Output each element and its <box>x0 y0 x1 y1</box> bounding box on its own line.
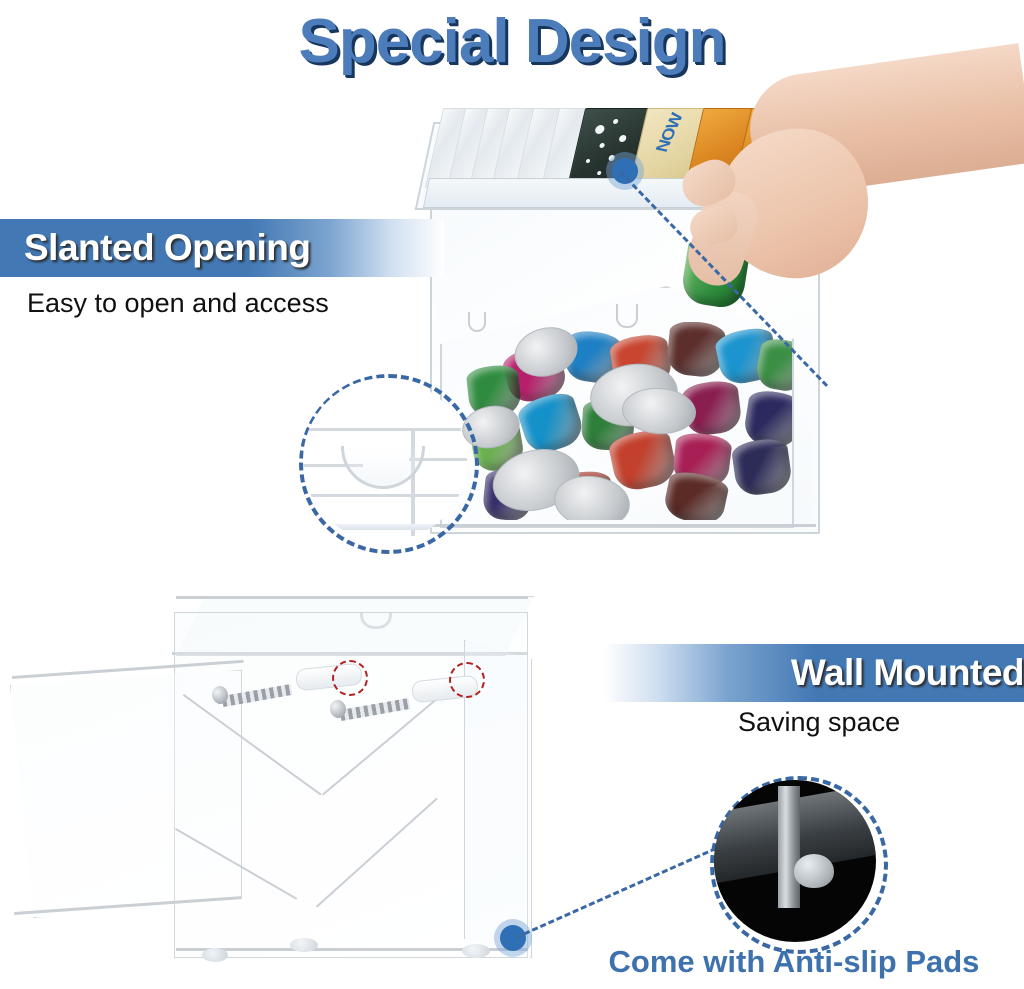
subtitle-slanted-opening: Easy to open and access <box>27 288 329 319</box>
mounting-hole-highlight <box>449 662 485 698</box>
coffee-capsule-pile <box>462 322 792 520</box>
detail-view-anti-slip-pad <box>714 780 876 942</box>
star-graphic-icon <box>613 119 619 124</box>
callout-dot-slanted-opening <box>612 158 638 184</box>
star-graphic-icon <box>608 155 615 161</box>
anti-slip-pads-caption: Come with Anti-slip Pads <box>584 944 1004 980</box>
callout-dot-anti-slip-pad <box>500 925 526 951</box>
star-graphic-icon <box>599 143 605 148</box>
product-image-bottom <box>64 582 564 982</box>
anti-slip-pad <box>462 944 490 958</box>
anti-slip-pad <box>290 938 318 952</box>
coffee-capsule <box>731 436 792 497</box>
box-bottom-edge <box>432 524 816 527</box>
detail-view-lid-notch <box>303 378 467 542</box>
mounting-hole-highlight <box>332 660 368 696</box>
banner-slanted-opening: Slanted Opening <box>0 219 444 277</box>
open-lid-panel <box>10 670 242 918</box>
banner-wall-mounted: Wall Mounted <box>604 644 1024 702</box>
banner-slanted-label: Slanted Opening <box>24 227 310 269</box>
star-graphic-icon <box>618 135 627 142</box>
subtitle-wall-mounted: Saving space <box>738 707 900 738</box>
box-corner-post <box>778 786 800 908</box>
star-graphic-icon <box>597 171 602 175</box>
star-graphic-icon <box>586 159 591 163</box>
anti-slip-pad-closeup <box>794 854 834 888</box>
star-graphic-icon <box>594 125 605 134</box>
banner-wall-label: Wall Mounted <box>791 652 1024 694</box>
marketing-slide: Special Design NOW Slanted Opening Easy … <box>0 0 1024 989</box>
top-edge <box>176 596 528 599</box>
anti-slip-pad <box>202 948 228 962</box>
